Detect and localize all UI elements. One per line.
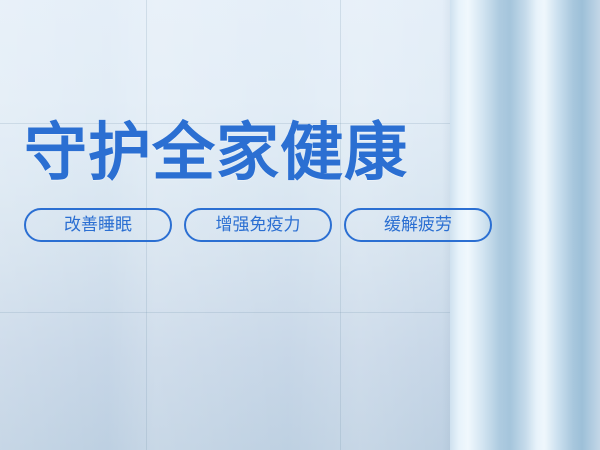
benefit-tag-sleep[interactable]: 改善睡眠 [24, 208, 172, 242]
benefit-tag-fatigue[interactable]: 缓解疲劳 [344, 208, 492, 242]
benefit-tag-immunity[interactable]: 增强免疫力 [184, 208, 332, 242]
banner-content: 守护全家健康 改善睡眠 增强免疫力 缓解疲劳 [24, 118, 544, 242]
promo-banner: 守护全家健康 改善睡眠 增强免疫力 缓解疲劳 [0, 0, 600, 450]
headline-text: 守护全家健康 [24, 118, 544, 188]
benefit-tag-row: 改善睡眠 增强免疫力 缓解疲劳 [24, 208, 544, 242]
